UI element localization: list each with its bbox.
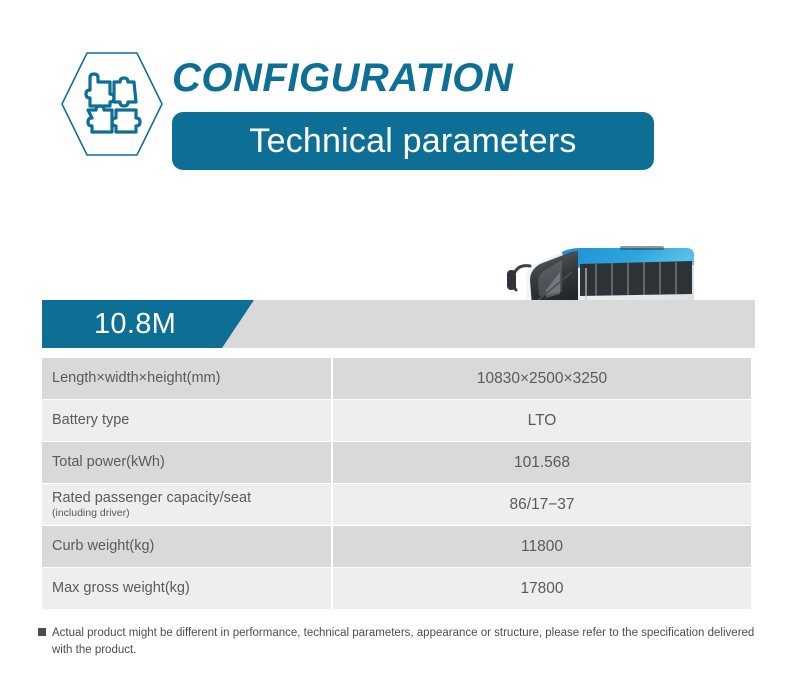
spec-label-cell: Battery type [42, 400, 331, 441]
spec-label: Rated passenger capacity/seat [52, 490, 331, 507]
spec-label-cell: Max gross weight(kg) [42, 568, 331, 609]
spec-label: Length×width×height(mm) [52, 370, 331, 387]
technical-parameters-label: Technical parameters [249, 122, 576, 161]
spec-value-cell: 101.568 [333, 442, 751, 483]
spec-label: Curb weight(kg) [52, 538, 331, 555]
model-banner: 10.8M [42, 300, 755, 348]
puzzle-hexagon-icon [58, 48, 166, 160]
square-bullet-icon [38, 628, 46, 636]
page-header: CONFIGURATION Technical parameters [0, 0, 790, 200]
spec-label: Battery type [52, 412, 331, 429]
model-label: 10.8M [94, 300, 176, 348]
spec-label-cell: Rated passenger capacity/seat (including… [42, 484, 331, 525]
table-row: Rated passenger capacity/seat (including… [42, 484, 751, 525]
spec-label-cell: Curb weight(kg) [42, 526, 331, 567]
spec-label-cell: Length×width×height(mm) [42, 358, 331, 399]
spec-value-cell: LTO [333, 400, 751, 441]
spec-value-cell: 86/17−37 [333, 484, 751, 525]
table-row: Total power(kWh) 101.568 [42, 442, 751, 483]
table-row: Max gross weight(kg) 17800 [42, 568, 751, 609]
spec-value: 10830×2500×3250 [477, 370, 607, 388]
spec-value: 11800 [521, 538, 563, 556]
footnote: Actual product might be different in per… [38, 625, 768, 659]
spec-value: 101.568 [514, 454, 570, 472]
footnote-text: Actual product might be different in per… [52, 625, 764, 659]
spec-value: LTO [528, 412, 557, 430]
table-row: Battery type LTO [42, 400, 751, 441]
page-title: CONFIGURATION [172, 54, 513, 102]
spec-value-cell: 11800 [333, 526, 751, 567]
spec-value: 17800 [520, 580, 563, 598]
table-row: Curb weight(kg) 11800 [42, 526, 751, 567]
spec-value: 86/17−37 [509, 496, 574, 514]
technical-parameters-banner: Technical parameters [172, 112, 654, 170]
spec-label: Total power(kWh) [52, 454, 331, 471]
spec-value-cell: 17800 [333, 568, 751, 609]
spec-label-cell: Total power(kWh) [42, 442, 331, 483]
spec-sublabel: (including driver) [52, 507, 331, 519]
spec-label: Max gross weight(kg) [52, 580, 331, 597]
table-row: Length×width×height(mm) 10830×2500×3250 [42, 358, 751, 399]
spec-value-cell: 10830×2500×3250 [333, 358, 751, 399]
specifications-table: Length×width×height(mm) 10830×2500×3250 … [42, 358, 751, 610]
